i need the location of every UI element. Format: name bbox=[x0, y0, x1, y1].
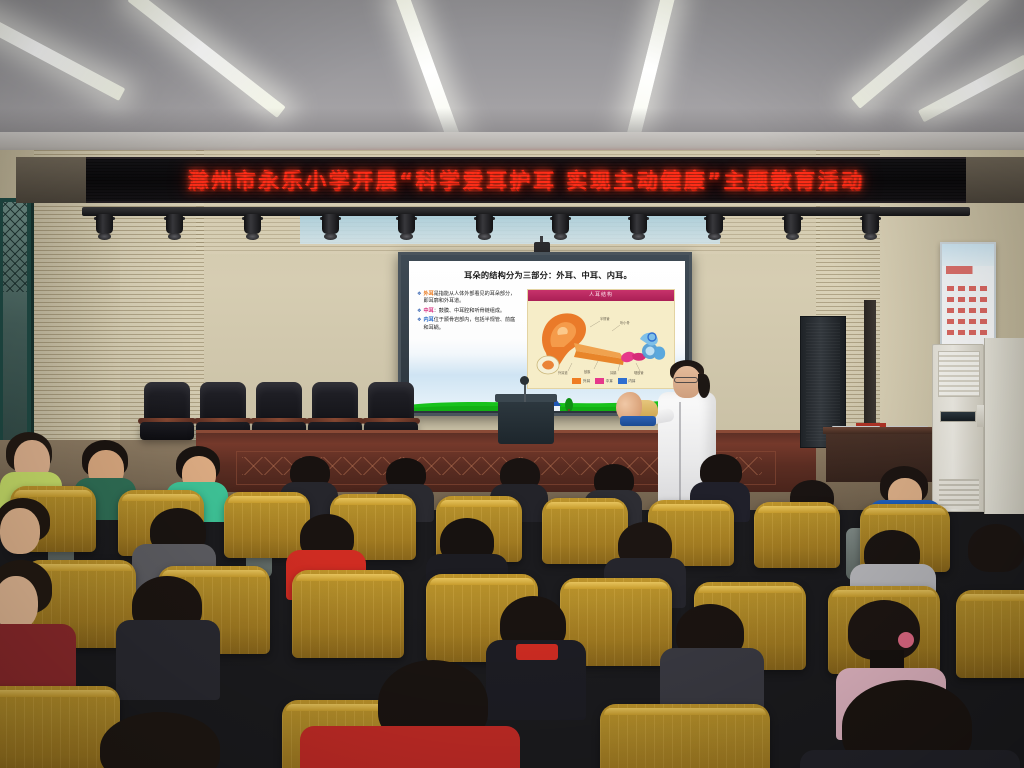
svg-text:耳蜗: 耳蜗 bbox=[610, 370, 616, 375]
air-conditioner[interactable] bbox=[932, 344, 984, 512]
executive-chair bbox=[140, 382, 194, 448]
poster-row bbox=[947, 308, 989, 313]
legend-item: 外耳 bbox=[572, 378, 590, 384]
led-banner: 滁州市永乐小学开展“科学爱耳护耳 实现主动健康”主题教育活动 bbox=[86, 157, 966, 203]
legend-item: 中耳 bbox=[595, 378, 613, 384]
bullet-marker-icon: ❖ bbox=[417, 317, 421, 332]
stage-spotlight bbox=[862, 214, 879, 240]
bullet-text: 是指能从人体外部看见的耳朵部分，即耳廓和外耳道。 bbox=[423, 291, 515, 304]
ear-anatomy-model bbox=[616, 392, 658, 426]
ac-intake-grille bbox=[939, 479, 979, 509]
stage-spotlight bbox=[398, 214, 415, 240]
auditorium-seat[interactable] bbox=[224, 492, 310, 558]
banner-right-surround bbox=[966, 157, 1024, 203]
presenter-ponytail bbox=[698, 374, 710, 398]
slide-title: 耳朵的结构分为三部分：外耳、中耳、内耳。 bbox=[423, 271, 673, 280]
poster-row bbox=[947, 330, 989, 335]
bullet-keyword: 外耳 bbox=[423, 291, 433, 297]
ac-display-panel bbox=[940, 411, 976, 422]
svg-text:外耳道: 外耳道 bbox=[558, 370, 568, 375]
bullet-keyword: 内耳 bbox=[423, 317, 433, 323]
student-head bbox=[0, 508, 40, 554]
svg-text:咽鼓管: 咽鼓管 bbox=[634, 370, 644, 375]
svg-text:鼓膜: 鼓膜 bbox=[584, 369, 591, 374]
ac-vent bbox=[938, 351, 980, 397]
stage-spotlight bbox=[476, 214, 493, 240]
stage-spotlight bbox=[322, 214, 339, 240]
poster-text-rows bbox=[947, 286, 989, 341]
stage-spotlight bbox=[166, 214, 183, 240]
auditorium-seat[interactable] bbox=[600, 704, 770, 768]
bullet-marker-icon: ❖ bbox=[417, 291, 421, 306]
red-scarf bbox=[516, 644, 558, 660]
student-body bbox=[116, 620, 220, 700]
legend-label: 内耳 bbox=[628, 379, 635, 384]
hair-scrunchie bbox=[898, 632, 914, 648]
legend-label: 中耳 bbox=[606, 379, 613, 384]
lectern bbox=[498, 398, 554, 444]
side-cabinet bbox=[984, 338, 1024, 514]
poster-row bbox=[947, 319, 989, 324]
auditorium-seat[interactable] bbox=[542, 498, 628, 564]
stage-spotlight bbox=[784, 214, 801, 240]
bullet-marker-icon: ❖ bbox=[417, 308, 421, 315]
legend-label: 外耳 bbox=[583, 379, 590, 384]
slide-bullet: ❖ 外耳是指能从人体外部看见的耳朵部分，即耳廓和外耳道。 bbox=[417, 291, 519, 306]
ear-figure-legend: 外耳 中耳 内耳 bbox=[558, 377, 650, 385]
ceiling-blue-recess bbox=[300, 216, 720, 244]
slide-bullet-list: ❖ 外耳是指能从人体外部看见的耳朵部分，即耳廓和外耳道。 ❖ 中耳：鼓膜、中耳腔… bbox=[417, 291, 519, 334]
auditorium-seat[interactable] bbox=[956, 590, 1024, 678]
window-grille bbox=[3, 202, 27, 292]
student-head bbox=[0, 576, 38, 630]
poster-header-image bbox=[942, 244, 994, 266]
stage-spotlight bbox=[96, 214, 113, 240]
microphone-icon bbox=[520, 376, 529, 385]
slide-bullet: ❖ 中耳：鼓膜、中耳腔和听骨链组成。 bbox=[417, 308, 519, 315]
banner-left-surround bbox=[16, 157, 86, 203]
led-banner-text: 滁州市永乐小学开展“科学爱耳护耳 实现主动健康”主题教育活动 bbox=[188, 165, 865, 195]
svg-text:听小骨: 听小骨 bbox=[620, 320, 630, 325]
lab-coat-seam bbox=[679, 402, 681, 502]
av-table-top bbox=[823, 427, 935, 434]
stage-spotlight bbox=[706, 214, 723, 240]
bullet-text: ：鼓膜、中耳腔和听骨链组成。 bbox=[434, 308, 505, 314]
legend-swatch bbox=[618, 378, 627, 384]
stage-spotlight bbox=[244, 214, 261, 240]
svg-text:半规管: 半规管 bbox=[600, 316, 610, 321]
poster-row bbox=[947, 297, 989, 302]
legend-item: 内耳 bbox=[618, 378, 636, 384]
student-body bbox=[800, 750, 1020, 768]
lectern-top bbox=[495, 394, 557, 402]
auditorium-seat[interactable] bbox=[292, 570, 404, 658]
student-body bbox=[300, 726, 520, 768]
poster-title-band bbox=[946, 266, 990, 274]
ear-figure-caption: 人耳结构 bbox=[528, 290, 674, 301]
ac-control-button[interactable] bbox=[977, 405, 984, 427]
auditorium-seat[interactable] bbox=[754, 502, 840, 568]
legend-swatch bbox=[572, 378, 581, 384]
stage-spotlight bbox=[630, 214, 647, 240]
bullet-text: 位于颞骨岩部内，包括半规管、前庭和耳蜗。 bbox=[423, 317, 515, 330]
legend-swatch bbox=[595, 378, 604, 384]
slide-surface: 耳朵的结构分为三部分：外耳、中耳、内耳。 ❖ 外耳是指能从人体外部看见的耳朵部分… bbox=[409, 261, 685, 411]
lighting-truss bbox=[82, 207, 970, 216]
slide-bullet: ❖ 内耳位于颞骨岩部内，包括半规管、前庭和耳蜗。 bbox=[417, 317, 519, 332]
bullet-keyword: 中耳 bbox=[423, 308, 433, 314]
glasses-icon bbox=[674, 377, 698, 383]
poster-row bbox=[947, 286, 989, 291]
auditorium-photo-scene: 滁州市永乐小学开展“科学爱耳护耳 实现主动健康”主题教育活动 耳朵的结构分为三部… bbox=[0, 0, 1024, 768]
student-hair bbox=[968, 524, 1024, 572]
microphone-stem bbox=[524, 382, 526, 402]
stage-spotlight bbox=[552, 214, 569, 240]
